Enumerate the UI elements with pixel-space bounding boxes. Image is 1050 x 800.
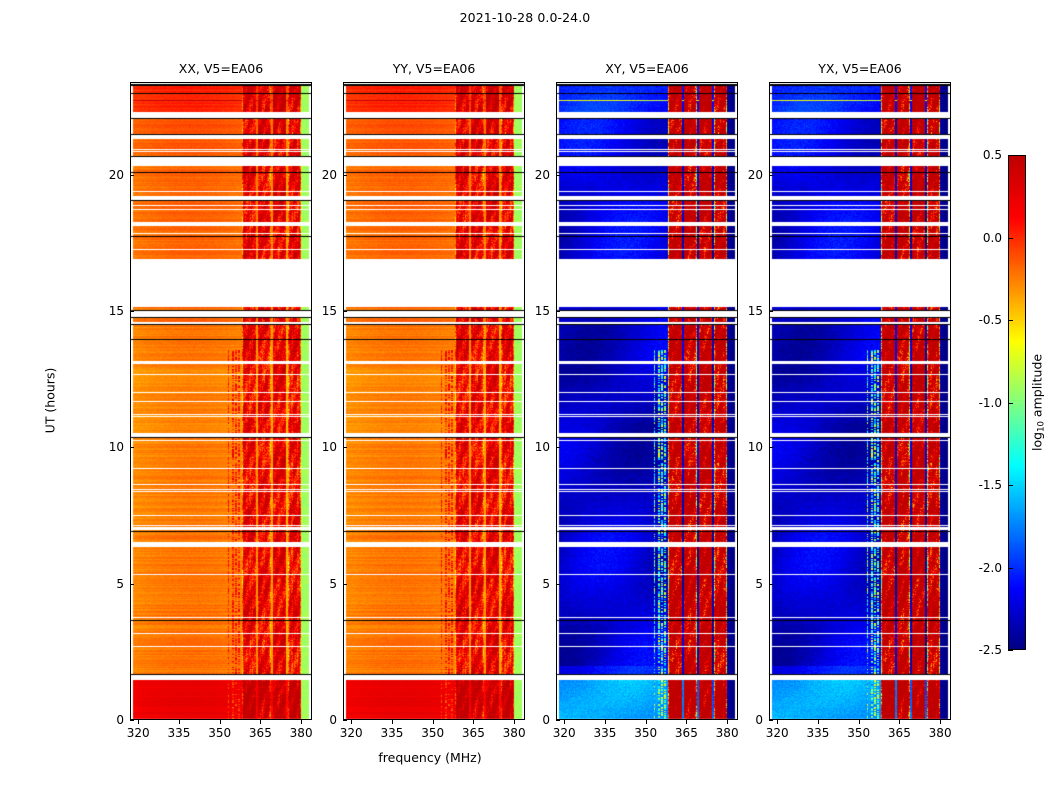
y-tick	[556, 311, 560, 312]
panel-yy[interactable]: YY, V5=EA06	[343, 82, 525, 720]
x-tick	[433, 720, 434, 724]
x-tick	[940, 720, 941, 724]
y-tick	[556, 175, 560, 176]
x-tick	[473, 720, 474, 724]
x-tick-label: 320	[127, 726, 150, 740]
x-tick	[351, 720, 352, 724]
y-tick	[130, 447, 134, 448]
x-tick-label: 380	[290, 726, 313, 740]
y-tick-label: 5	[309, 577, 337, 591]
y-tick-label: 15	[735, 304, 763, 318]
y-tick-label: 0	[96, 713, 124, 727]
panel-xx[interactable]: XX, V5=EA06	[130, 82, 312, 720]
x-tick-label: 335	[806, 726, 829, 740]
x-tick-label: 365	[888, 726, 911, 740]
y-tick-label: 20	[96, 168, 124, 182]
x-tick	[686, 720, 687, 724]
y-tick	[769, 447, 773, 448]
x-tick	[818, 720, 819, 724]
x-tick-label: 320	[553, 726, 576, 740]
y-tick-label: 20	[522, 168, 550, 182]
colorbar-label-suffix: amplitude	[1030, 353, 1045, 420]
y-tick	[556, 584, 560, 585]
x-tick-label: 350	[421, 726, 444, 740]
colorbar-label-prefix: log	[1030, 431, 1045, 450]
x-tick-label: 320	[766, 726, 789, 740]
colorbar-tick-label: -2.5	[964, 643, 1002, 657]
colorbar-tick	[1008, 238, 1013, 239]
panel-yx-frame	[769, 82, 951, 720]
y-tick	[556, 447, 560, 448]
colorbar-label: log10 amplitude	[1030, 322, 1047, 482]
y-tick	[343, 720, 347, 721]
panel-yy-title: YY, V5=EA06	[343, 61, 525, 76]
panel-xx-title: XX, V5=EA06	[130, 61, 312, 76]
y-tick-label: 15	[309, 304, 337, 318]
colorbar-tick-label: -0.5	[964, 313, 1002, 327]
y-axis-label: UT (hours)	[43, 341, 58, 461]
panel-yx-title: YX, V5=EA06	[769, 61, 951, 76]
y-tick	[343, 311, 347, 312]
y-tick	[769, 175, 773, 176]
y-tick-label: 5	[96, 577, 124, 591]
x-tick	[392, 720, 393, 724]
y-tick	[130, 175, 134, 176]
colorbar-tick-label: 0.5	[964, 148, 1002, 162]
y-tick-label: 0	[522, 713, 550, 727]
x-tick-label: 380	[929, 726, 952, 740]
x-tick	[777, 720, 778, 724]
x-tick	[301, 720, 302, 724]
y-tick-label: 0	[735, 713, 763, 727]
x-tick-label: 365	[462, 726, 485, 740]
x-tick-label: 380	[503, 726, 526, 740]
x-tick-label: 365	[249, 726, 272, 740]
x-tick	[646, 720, 647, 724]
y-tick-label: 10	[309, 440, 337, 454]
colorbar-tick-label: -1.5	[964, 478, 1002, 492]
colorbar-tick	[1008, 485, 1013, 486]
figure-title: 2021-10-28 0.0-24.0	[0, 10, 1050, 25]
x-tick	[605, 720, 606, 724]
colorbar-label-subscript: 10	[1036, 421, 1046, 432]
panel-yx[interactable]: YX, V5=EA06	[769, 82, 951, 720]
y-tick	[130, 584, 134, 585]
colorbar-tick-label: 0.0	[964, 231, 1002, 245]
panel-xx-heatmap	[131, 83, 312, 720]
panel-yx-heatmap	[770, 83, 951, 720]
colorbar-tick-label: -2.0	[964, 561, 1002, 575]
y-tick	[343, 584, 347, 585]
panel-yy-heatmap	[344, 83, 525, 720]
x-tick-label: 350	[847, 726, 870, 740]
y-tick	[769, 311, 773, 312]
x-tick-label: 380	[716, 726, 739, 740]
y-tick-label: 10	[522, 440, 550, 454]
y-tick-label: 20	[735, 168, 763, 182]
colorbar-tick	[1008, 320, 1013, 321]
colorbar-tick	[1008, 403, 1013, 404]
panel-xy-title: XY, V5=EA06	[556, 61, 738, 76]
y-tick-label: 10	[735, 440, 763, 454]
y-tick	[130, 720, 134, 721]
x-tick	[220, 720, 221, 724]
colorbar-tick	[1008, 155, 1013, 156]
panel-xy-heatmap	[557, 83, 738, 720]
y-tick	[343, 175, 347, 176]
y-tick	[130, 311, 134, 312]
y-tick-label: 5	[522, 577, 550, 591]
y-tick-label: 10	[96, 440, 124, 454]
x-tick-label: 320	[340, 726, 363, 740]
y-tick	[343, 447, 347, 448]
x-axis-label: frequency (MHz)	[330, 750, 530, 765]
panel-xx-frame	[130, 82, 312, 720]
colorbar-tick-label: -1.0	[964, 396, 1002, 410]
x-tick-label: 350	[634, 726, 657, 740]
panel-yy-frame	[343, 82, 525, 720]
x-tick	[138, 720, 139, 724]
y-tick-label: 15	[96, 304, 124, 318]
x-tick-label: 335	[380, 726, 403, 740]
x-tick	[859, 720, 860, 724]
colorbar-tick	[1008, 568, 1013, 569]
y-tick	[769, 720, 773, 721]
colorbar-tick	[1008, 650, 1013, 651]
y-tick-label: 0	[309, 713, 337, 727]
x-tick-label: 350	[208, 726, 231, 740]
y-tick	[556, 720, 560, 721]
figure-canvas: 2021-10-28 0.0-24.0 XX, V5=EA06 YY, V5=E…	[0, 0, 1050, 800]
x-tick	[564, 720, 565, 724]
y-tick-label: 15	[522, 304, 550, 318]
x-tick-label: 335	[167, 726, 190, 740]
x-tick	[899, 720, 900, 724]
y-tick	[769, 584, 773, 585]
y-tick-label: 5	[735, 577, 763, 591]
x-tick	[260, 720, 261, 724]
x-tick	[727, 720, 728, 724]
y-tick-label: 20	[309, 168, 337, 182]
panel-xy[interactable]: XY, V5=EA06	[556, 82, 738, 720]
x-tick	[514, 720, 515, 724]
x-tick-label: 365	[675, 726, 698, 740]
x-tick	[179, 720, 180, 724]
panel-xy-frame	[556, 82, 738, 720]
x-tick-label: 335	[593, 726, 616, 740]
